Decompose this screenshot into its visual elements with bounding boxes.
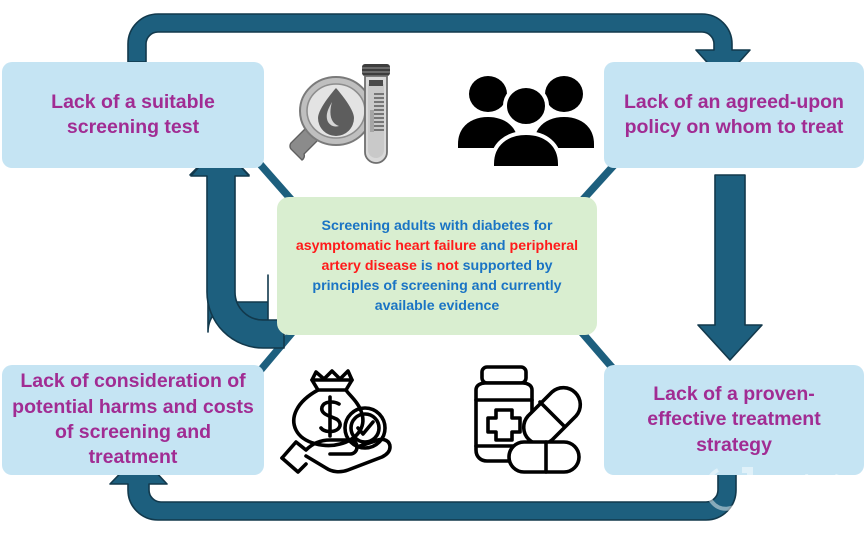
diagram-canvas: .arw { fill:#1d5f7e; stroke:#12394c; str… [0,0,864,534]
center-conclusion-box: Screening adults with diabetes for asymp… [277,197,597,335]
box-lack-of-proven-effective-treatment[interactable]: Lack of a proven-effective treatment str… [604,365,864,475]
box-bl-label: Lack of consideration of potential harms… [12,369,254,470]
box-tr-label: Lack of an agreed-upon policy on whom to… [614,90,854,141]
center-segment-0: Screening adults with diabetes for [322,218,553,234]
box-br-label: Lack of a proven-effective treatment str… [614,382,854,458]
box-lack-of-consideration-of-harms-costs[interactable]: Lack of consideration of potential harms… [2,365,264,475]
center-conclusion-text: Screening adults with diabetes for asymp… [289,216,585,317]
magnifier-blood-drop-and-test-tube-icon [282,62,400,174]
center-segment-5: not [437,258,459,274]
arrow-left-up [191,143,284,348]
box-lack-of-suitable-screening-test[interactable]: Lack of a suitable screening test [2,62,264,168]
medicine-bottle-and-pills-icon [452,362,584,474]
box-tl-label: Lack of a suitable screening test [12,90,254,141]
hand-holding-money-bag-with-check-icon [272,362,402,474]
box-lack-of-agreed-policy[interactable]: Lack of an agreed-upon policy on whom to… [604,62,864,168]
group-of-people-icon [452,68,600,168]
center-segment-1: asymptomatic heart failure [296,238,477,254]
center-segment-2: and [476,238,509,254]
center-segment-4: is [417,258,437,274]
